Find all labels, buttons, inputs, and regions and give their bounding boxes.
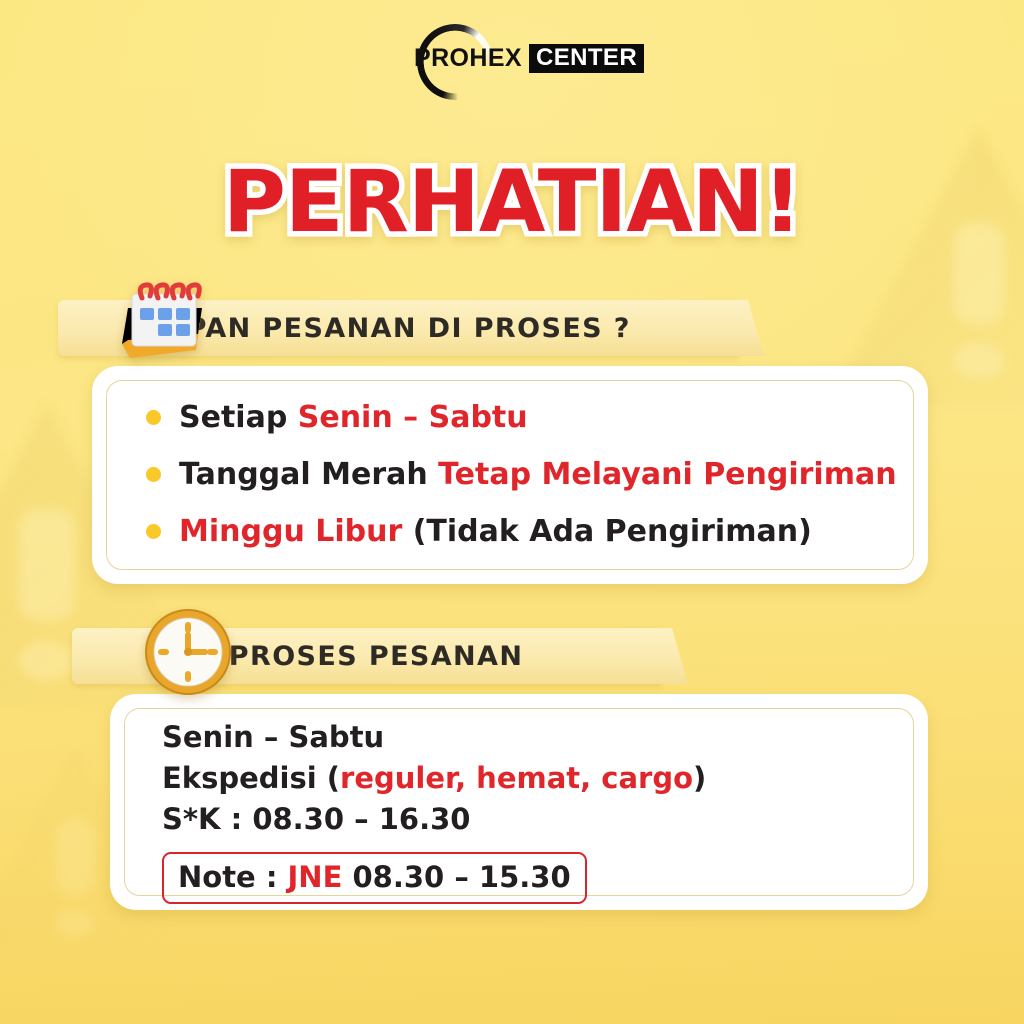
section-banner: KAPAN PESANAN DI PROSES ?	[58, 300, 738, 356]
brand-wordmark: PROHEX CENTER	[387, 44, 637, 73]
brand-logo: PROHEX CENTER	[0, 18, 1024, 104]
page-title: PERHATIAN!	[0, 152, 1024, 252]
section-banner: JAM PROSES PESANAN	[72, 628, 662, 684]
hours-line: S*K : 08.30 – 16.30	[162, 802, 886, 836]
section-order-days: KAPAN PESANAN DI PROSES ?	[58, 300, 738, 356]
card-body: Senin – Sabtu Ekspedisi (reguler, hemat,…	[110, 694, 928, 930]
exclamation-dot	[55, 910, 94, 938]
list-item: Tanggal Merah Tetap Melayani Pengiriman	[146, 457, 888, 492]
list-item: Setiap Senin – Sabtu	[146, 400, 888, 435]
card-body: Setiap Senin – Sabtu Tanggal Merah Tetap…	[92, 366, 928, 583]
bullet-text: Setiap Senin – Sabtu	[179, 400, 528, 435]
brand-name-primary: PROHEX	[414, 44, 522, 73]
order-days-card: Setiap Senin – Sabtu Tanggal Merah Tetap…	[92, 366, 928, 584]
bullet-dot-icon	[146, 467, 161, 482]
bullet-text: Tanggal Merah Tetap Melayani Pengiriman	[179, 457, 897, 492]
process-hours-card: Senin – Sabtu Ekspedisi (reguler, hemat,…	[110, 694, 928, 910]
section-process-hours: JAM PROSES PESANAN	[72, 628, 662, 684]
hours-line: Senin – Sabtu	[162, 720, 886, 754]
exclamation-dot	[19, 641, 75, 681]
exclamation-dot	[954, 343, 1005, 379]
brand-name-badge: CENTER	[529, 44, 644, 73]
note-badge: Note : JNE 08.30 – 15.30	[162, 852, 587, 904]
list-item: Minggu Libur (Tidak Ada Pengiriman)	[146, 514, 888, 549]
bullet-dot-icon	[146, 410, 161, 425]
hours-line: Ekspedisi (reguler, hemat, cargo)	[162, 761, 886, 795]
calendar-icon	[114, 278, 210, 364]
clock-icon	[144, 608, 232, 696]
exclamation-stem	[19, 509, 75, 621]
bullet-dot-icon	[146, 524, 161, 539]
exclamation-stem	[55, 818, 94, 896]
bullet-text: Minggu Libur (Tidak Ada Pengiriman)	[179, 514, 812, 549]
section-title: KAPAN PESANAN DI PROSES ?	[142, 313, 631, 344]
